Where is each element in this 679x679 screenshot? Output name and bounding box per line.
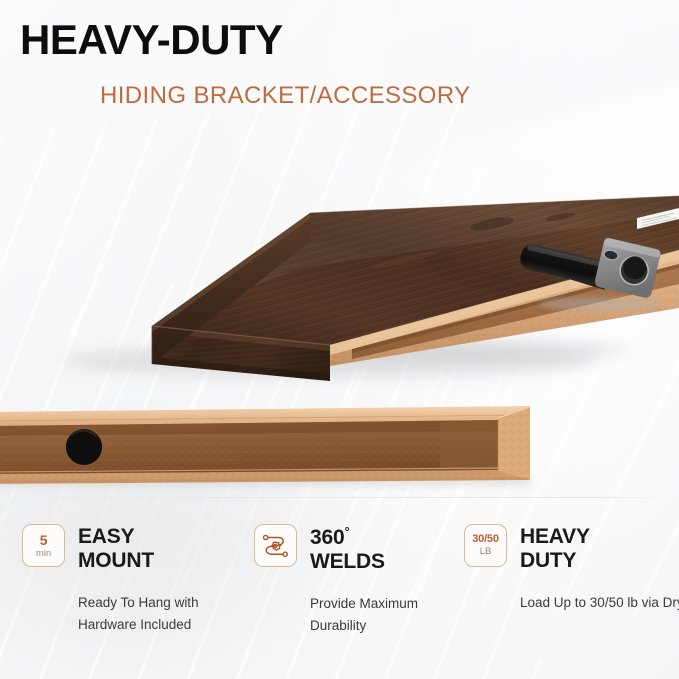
page-title: HEAVY-DUTY	[20, 19, 283, 61]
feature-easy-mount: 5 min EASY MOUNT Ready To Hang with Hard…	[22, 524, 237, 636]
page-subtitle: HIDING BRACKET/ACCESSORY	[100, 84, 471, 108]
feature-description: Provide Maximum Durability	[310, 593, 469, 637]
section-divider	[0, 497, 679, 498]
badge-value: 5	[40, 533, 48, 547]
feature-title-line2: WELDS	[310, 550, 385, 573]
hollow-channel-illustration	[0, 390, 679, 492]
feature-description: Load Up to 30/50 lb via Drywall	[520, 592, 679, 614]
feature-title-value: 360	[310, 526, 344, 549]
feature-description: Ready To Hang with Hardware Included	[78, 592, 237, 636]
badge-unit: min	[36, 549, 51, 559]
hero-product-photo	[0, 118, 679, 390]
weld-path-glyph	[261, 533, 291, 559]
mounting-hole	[66, 429, 103, 466]
features-row: 5 min EASY MOUNT Ready To Hang with Hard…	[0, 524, 679, 674]
shelf-with-bracket-illustration	[0, 118, 679, 390]
feature-title: EASY MOUNT	[78, 524, 154, 573]
feature-360-welds: 360° WELDS Provide Maximum Durability	[254, 524, 469, 637]
feature-header: 30/50 LB HEAVY DUTY	[464, 524, 679, 573]
weight-capacity-badge: 30/50 LB	[464, 524, 507, 567]
badge-unit: LB	[480, 547, 492, 557]
feature-header: 360° WELDS	[254, 524, 469, 574]
product-marketing-image: HEAVY-DUTY HIDING BRACKET/ACCESSORY	[0, 0, 679, 679]
degree-symbol: °	[344, 524, 349, 539]
weld-path-icon	[254, 524, 297, 567]
feature-heavy-duty: 30/50 LB HEAVY DUTY Load Up to 30/50 lb …	[464, 524, 679, 614]
feature-title: 360° WELDS	[310, 524, 385, 574]
feature-header: 5 min EASY MOUNT	[22, 524, 237, 573]
feature-title: HEAVY DUTY	[520, 524, 590, 573]
five-minute-badge: 5 min	[22, 524, 65, 567]
badge-value: 30/50	[472, 534, 499, 545]
channel-closeup-photo	[0, 390, 679, 492]
